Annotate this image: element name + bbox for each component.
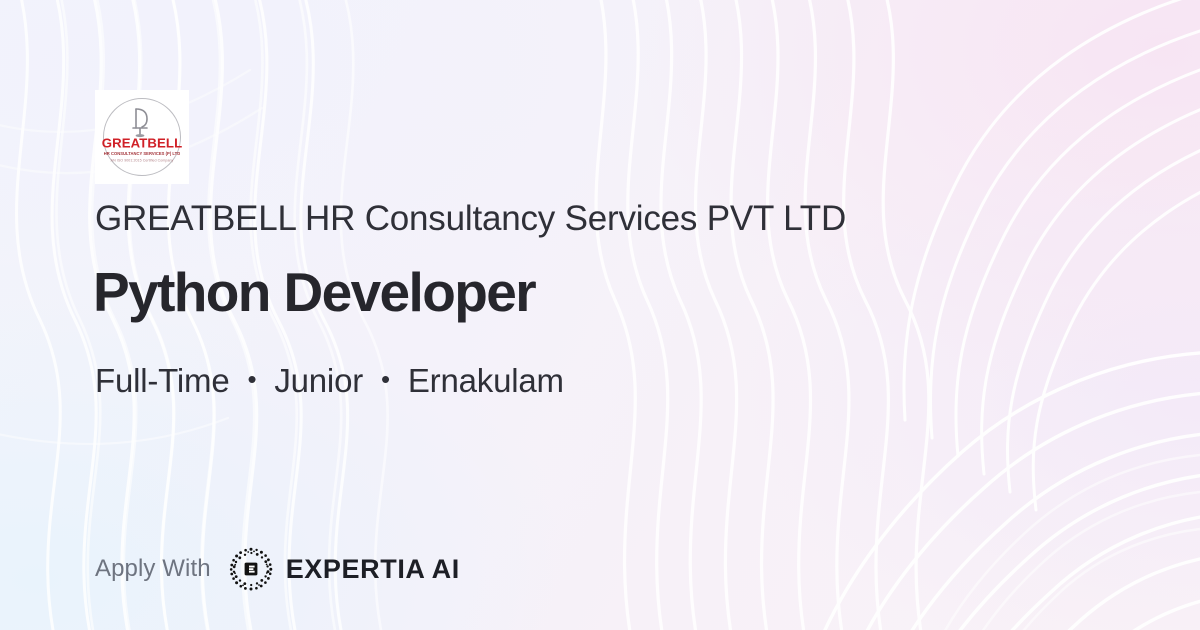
meta-separator: •	[372, 364, 399, 394]
logo-wordmark: GREATBELL	[102, 136, 183, 151]
apply-with-label: Apply With	[95, 555, 211, 583]
greatbell-logo-icon: GREATBELL HR CONSULTANCY SERVICES (P) LT…	[95, 90, 189, 184]
job-posting-card: GREATBELL HR CONSULTANCY SERVICES (P) LT…	[0, 0, 1200, 630]
apply-footer: Apply With	[95, 546, 460, 592]
job-title: Python Developer	[93, 262, 535, 324]
job-location: Ernakulam	[408, 362, 564, 399]
meta-separator: •	[238, 364, 265, 394]
expertia-mark-icon	[228, 546, 274, 592]
employment-type: Full-Time	[95, 362, 229, 399]
job-meta: Full-Time • Junior • Ernakulam	[95, 362, 564, 400]
card-content: GREATBELL HR CONSULTANCY SERVICES (P) LT…	[0, 0, 1200, 630]
seniority-level: Junior	[274, 362, 363, 399]
company-logo-badge: GREATBELL HR CONSULTANCY SERVICES (P) LT…	[95, 90, 189, 184]
expertia-brand-name: EXPERTIA AI	[286, 554, 460, 585]
logo-tagline: HR CONSULTANCY SERVICES (P) LTD	[104, 151, 180, 156]
company-name: GREATBELL HR Consultancy Services PVT LT…	[95, 199, 846, 238]
logo-subtagline: AN ISO 9001:2015 Certified Company	[111, 158, 174, 162]
expertia-ai-logo[interactable]: EXPERTIA AI	[228, 546, 460, 592]
